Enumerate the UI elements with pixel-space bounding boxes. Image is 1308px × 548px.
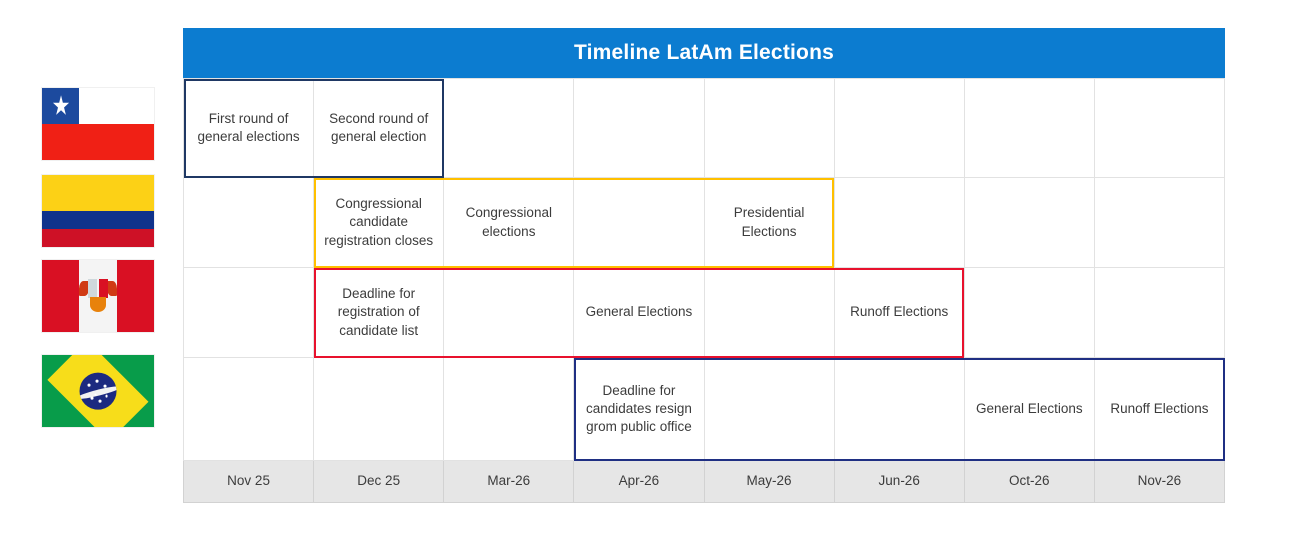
cell-chile-nov25: First round of general elections: [184, 79, 314, 178]
month-label-nov25: Nov 25: [184, 461, 314, 503]
brazil-flag: [42, 355, 154, 427]
cell-colombia-nov25: [184, 178, 314, 268]
cell-brazil-dec25: [314, 358, 444, 461]
cell-peru-mar26: [444, 268, 574, 358]
cell-colombia-nov26: [1094, 178, 1224, 268]
month-label-oct26: Oct-26: [964, 461, 1094, 503]
cell-peru-dec25: Deadline for registration of candidate l…: [314, 268, 444, 358]
cell-peru-apr26: General Elections: [574, 268, 704, 358]
month-label-nov26: Nov-26: [1094, 461, 1224, 503]
flag-column: [0, 0, 183, 548]
cell-colombia-mar26: Congressional elections: [444, 178, 574, 268]
cell-chile-mar26: [444, 79, 574, 178]
cell-brazil-may26: [704, 358, 834, 461]
cell-chile-nov26: [1094, 79, 1224, 178]
table-row: Deadline for registration of candidate l…: [184, 268, 1225, 358]
cell-peru-nov26: [1094, 268, 1224, 358]
cell-brazil-jun26: [834, 358, 964, 461]
cell-chile-may26: [704, 79, 834, 178]
timeline-table: Timeline LatAm Elections First round of …: [183, 28, 1225, 503]
timeline-infographic: Timeline LatAm Elections First round of …: [0, 0, 1308, 548]
cell-peru-may26: [704, 268, 834, 358]
cell-brazil-mar26: [444, 358, 574, 461]
cell-brazil-oct26: General Elections: [964, 358, 1094, 461]
cell-peru-jun26: Runoff Elections: [834, 268, 964, 358]
table-row: Deadline for candidates resign grom publ…: [184, 358, 1225, 461]
cell-brazil-nov25: [184, 358, 314, 461]
colombia-flag: [42, 175, 154, 247]
cell-chile-jun26: [834, 79, 964, 178]
cell-brazil-nov26: Runoff Elections: [1094, 358, 1224, 461]
month-label-mar26: Mar-26: [444, 461, 574, 503]
table-row: Congressional candidate registration clo…: [184, 178, 1225, 268]
cell-chile-apr26: [574, 79, 704, 178]
cell-peru-oct26: [964, 268, 1094, 358]
month-label-jun26: Jun-26: [834, 461, 964, 503]
table-row: First round of general elections Second …: [184, 79, 1225, 178]
peru-coat-of-arms-icon: [88, 279, 108, 312]
month-label-apr26: Apr-26: [574, 461, 704, 503]
month-label-may26: May-26: [704, 461, 834, 503]
peru-flag: [42, 260, 154, 332]
cell-colombia-apr26: [574, 178, 704, 268]
cell-colombia-jun26: [834, 178, 964, 268]
cell-colombia-oct26: [964, 178, 1094, 268]
cell-colombia-may26: Presidential Elections: [704, 178, 834, 268]
cell-chile-dec25: Second round of general election: [314, 79, 444, 178]
timeline-grid: First round of general elections Second …: [183, 78, 1225, 503]
cell-brazil-apr26: Deadline for candidates resign grom publ…: [574, 358, 704, 461]
cell-colombia-dec25: Congressional candidate registration clo…: [314, 178, 444, 268]
months-row: Nov 25 Dec 25 Mar-26 Apr-26 May-26 Jun-2…: [184, 461, 1225, 503]
month-label-dec25: Dec 25: [314, 461, 444, 503]
cell-peru-nov25: [184, 268, 314, 358]
cell-chile-oct26: [964, 79, 1094, 178]
chile-flag: [42, 88, 154, 160]
page-title: Timeline LatAm Elections: [183, 28, 1225, 78]
